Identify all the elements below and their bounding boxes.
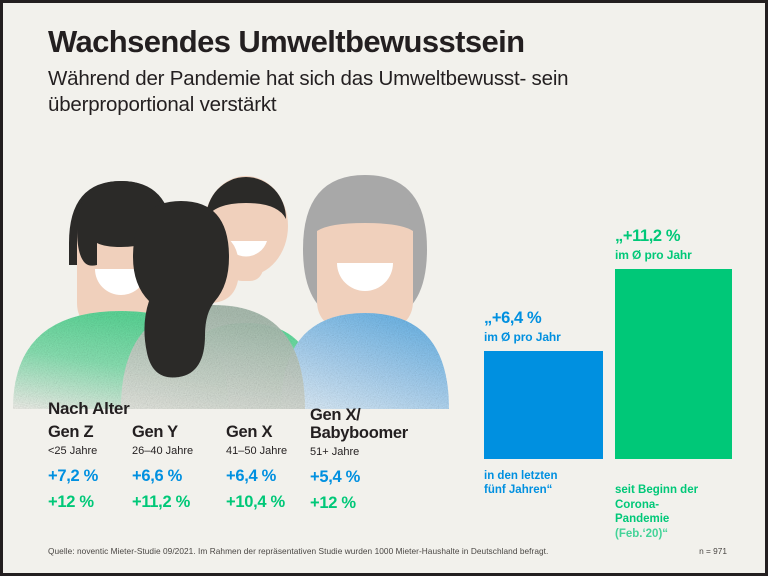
bar-label-pandemic: „+11,2 % im Ø pro Jahr — [615, 227, 768, 262]
gen-value-five-years: +7,2 % — [48, 467, 132, 486]
age-breakdown-section: Nach Alter Gen Z <25 Jahre +7,2 % +12 % … — [48, 399, 468, 516]
age-column-gen-x: Gen X 41–50 Jahre +6,4 % +10,4 % — [226, 424, 310, 512]
gen-age-range: <25 Jahre — [48, 445, 132, 457]
person-babyboomer — [281, 175, 449, 409]
footer-source-note: Quelle: noventic Mieter-Studie 09/2021. … — [48, 546, 548, 556]
age-column-babyboomer: Gen X/ Babyboomer 51+ Jahre +5,4 % +12 % — [310, 424, 450, 513]
bar-caption-main: seit Beginn der Corona- Pandemie — [615, 484, 698, 525]
gen-value-five-years: +6,4 % — [226, 467, 310, 486]
gen-age-range: 51+ Jahre — [310, 446, 450, 458]
gen-value-pandemic: +11,2 % — [132, 493, 226, 512]
header: Wachsendes Umweltbewusstsein Während der… — [48, 25, 708, 118]
bar-group-five-years: „+6,4 % im Ø pro Jahr in den letzten fün… — [484, 351, 606, 459]
bar-sublabel: im Ø pro Jahr — [615, 248, 768, 262]
bar-caption-five-years: in den letzten fünf Jahren“ — [484, 469, 609, 498]
gen-name: Gen Z — [48, 424, 132, 442]
bar-rect-five-years — [484, 351, 603, 459]
infographic-root: Wachsendes Umweltbewusstsein Während der… — [0, 0, 768, 576]
bar-group-pandemic: „+11,2 % im Ø pro Jahr seit Beginn der C… — [615, 269, 735, 459]
footer: Quelle: noventic Mieter-Studie 09/2021. … — [48, 546, 727, 556]
page-title: Wachsendes Umweltbewusstsein — [48, 25, 708, 60]
gen-value-pandemic: +12 % — [48, 493, 132, 512]
gen-value-five-years: +6,6 % — [132, 467, 226, 486]
gen-name: Gen X — [226, 424, 310, 442]
gen-value-five-years: +5,4 % — [310, 468, 450, 487]
footer-sample-size: n = 971 — [699, 546, 727, 556]
bar-value: „+11,2 % — [615, 227, 768, 245]
gen-age-range: 26–40 Jahre — [132, 445, 226, 457]
gen-value-pandemic: +12 % — [310, 494, 450, 513]
gen-name: Gen X/ Babyboomer — [310, 407, 450, 443]
age-column-gen-y: Gen Y 26–40 Jahre +6,6 % +11,2 % — [132, 424, 226, 512]
bar-chart: „+6,4 % im Ø pro Jahr in den letzten fün… — [473, 203, 753, 533]
four-people-illustration — [3, 151, 473, 409]
gen-age-range: 41–50 Jahre — [226, 445, 310, 457]
bar-caption-date: (Feb.‘20)“ — [615, 527, 740, 541]
gen-value-pandemic: +10,4 % — [226, 493, 310, 512]
page-subtitle: Während der Pandemie hat sich das Umwelt… — [48, 66, 708, 118]
age-column-gen-z: Gen Z <25 Jahre +7,2 % +12 % — [48, 424, 132, 512]
gen-name: Gen Y — [132, 424, 226, 442]
bar-caption-pandemic: seit Beginn der Corona- Pandemie (Feb.‘2… — [615, 469, 740, 555]
age-columns: Gen Z <25 Jahre +7,2 % +12 % Gen Y 26–40… — [48, 424, 468, 516]
bar-rect-pandemic — [615, 269, 732, 459]
